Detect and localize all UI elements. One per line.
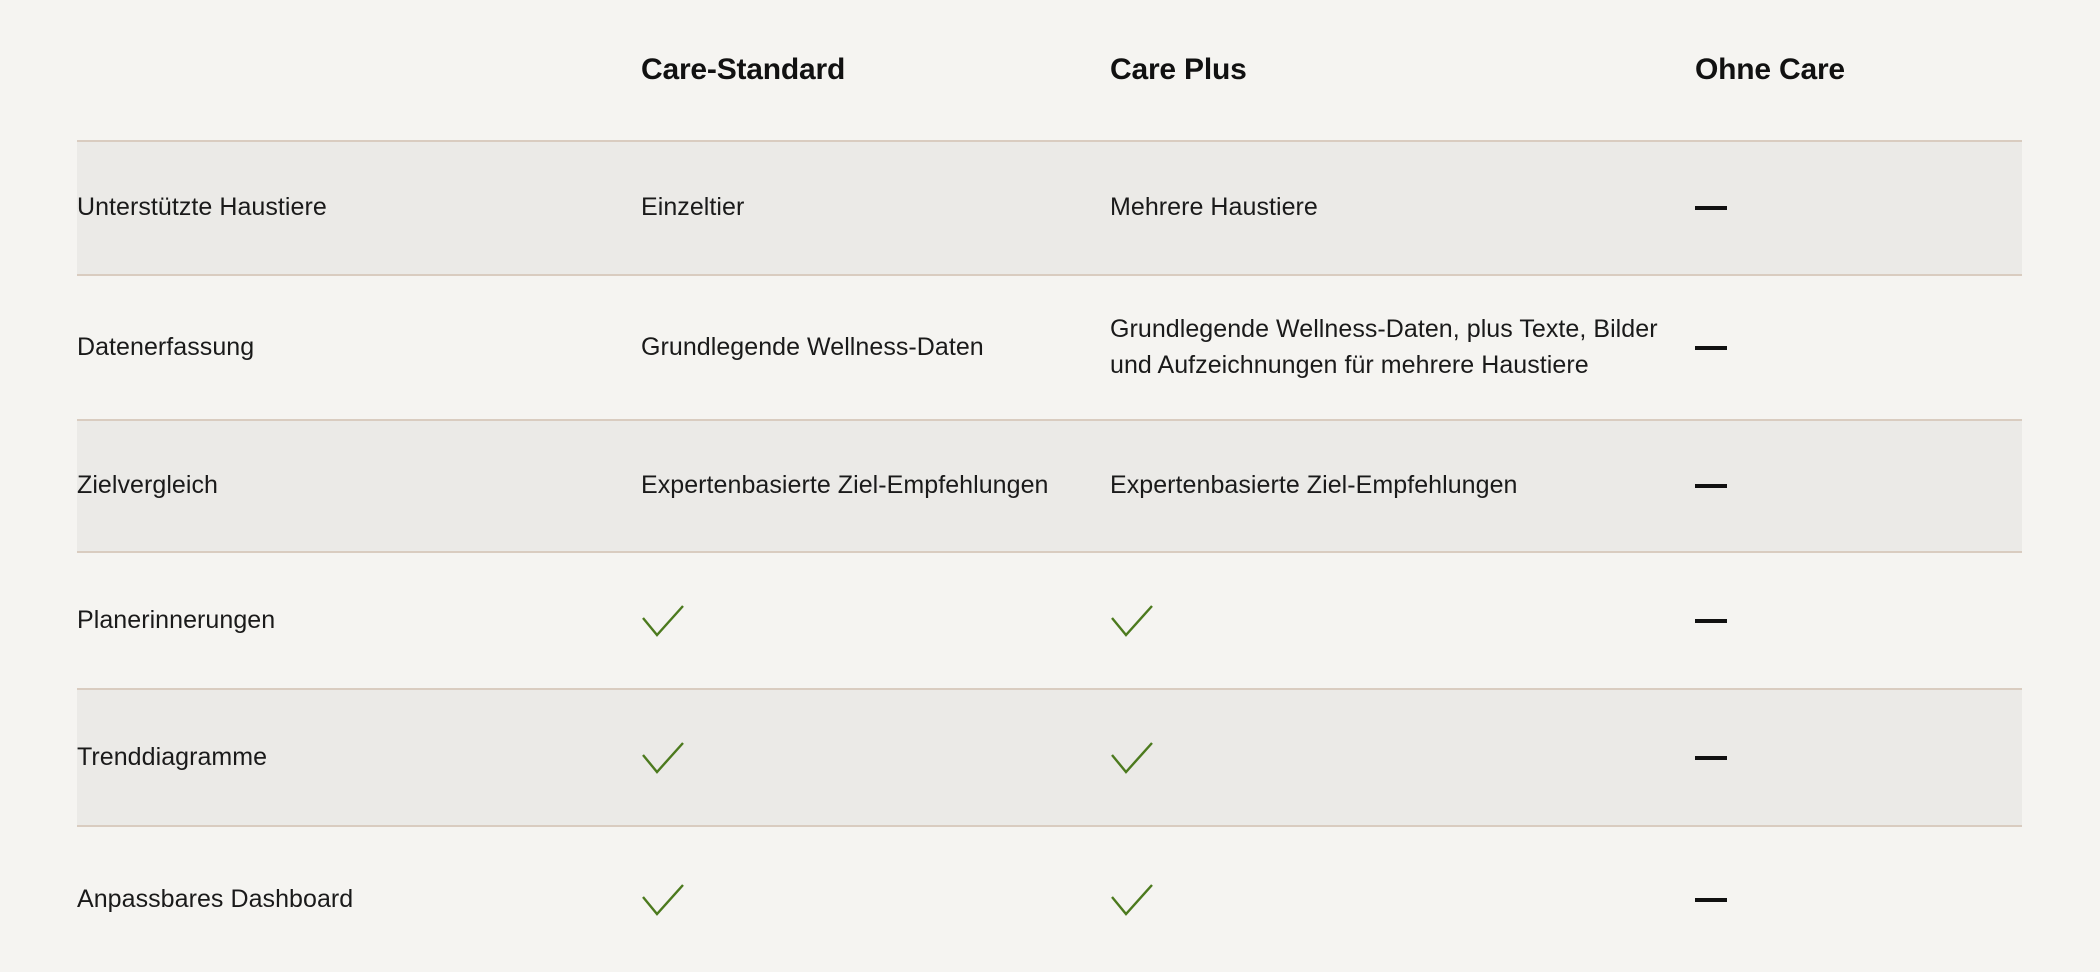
dash-icon (1695, 756, 1727, 760)
feature-cell: Planerinnerungen (77, 552, 641, 689)
care-plus-value: Expertenbasierte Ziel-Empfehlungen (1110, 432, 1695, 540)
ohne-care-cell (1695, 552, 2022, 689)
care-plus-cell: Grundlegende Wellness-Daten, plus Texte,… (1110, 275, 1695, 420)
care-standard-value: Einzeltier (641, 154, 1110, 262)
check-icon (641, 604, 685, 638)
ohne-care-value (1695, 448, 2022, 524)
care-plus-value: Grundlegende Wellness-Daten, plus Texte,… (1110, 276, 1695, 419)
header-row: Care-Standard Care Plus Ohne Care (77, 0, 2022, 141)
care-standard-cell (641, 689, 1110, 826)
care-plus-cell (1110, 689, 1695, 826)
ohne-care-cell (1695, 826, 2022, 972)
feature-cell: Unterstützte Haustiere (77, 141, 641, 275)
check-icon (641, 883, 685, 917)
ohne-care-value (1695, 720, 2022, 796)
care-plus-cell (1110, 552, 1695, 689)
table-row: Datenerfassung Grundlegende Wellness-Dat… (77, 275, 2022, 420)
care-plus-cell (1110, 826, 1695, 972)
care-plus-value (1110, 705, 1695, 811)
ohne-care-value (1695, 170, 2022, 246)
care-standard-cell: Expertenbasierte Ziel-Empfehlungen (641, 420, 1110, 552)
table-row: Planerinnerungen (77, 552, 2022, 689)
feature-label: Planerinnerungen (77, 567, 641, 675)
care-standard-cell (641, 552, 1110, 689)
column-header-care-plus: Care Plus (1110, 0, 1695, 141)
ohne-care-cell (1695, 689, 2022, 826)
care-standard-cell: Grundlegende Wellness-Daten (641, 275, 1110, 420)
care-plus-value (1110, 568, 1695, 674)
care-plus-value (1110, 847, 1695, 953)
care-plus-cell: Expertenbasierte Ziel-Empfehlungen (1110, 420, 1695, 552)
care-standard-value: Grundlegende Wellness-Daten (641, 294, 1110, 402)
dash-icon (1695, 206, 1727, 210)
check-icon (1110, 604, 1154, 638)
care-standard-value (641, 705, 1110, 811)
care-standard-cell: Einzeltier (641, 141, 1110, 275)
table-row: Anpassbares Dashboard (77, 826, 2022, 972)
dash-icon (1695, 484, 1727, 488)
table-header: Care-Standard Care Plus Ohne Care (77, 0, 2022, 141)
care-standard-value (641, 847, 1110, 953)
table-row: Zielvergleich Expertenbasierte Ziel-Empf… (77, 420, 2022, 552)
column-header-care-standard-label: Care-Standard (641, 51, 1110, 89)
column-header-care-standard: Care-Standard (641, 0, 1110, 141)
table-body: Unterstützte Haustiere Einzeltier Mehrer… (77, 141, 2022, 972)
dash-icon (1695, 619, 1727, 623)
care-standard-cell (641, 826, 1110, 972)
feature-cell: Anpassbares Dashboard (77, 826, 641, 972)
ohne-care-value (1695, 310, 2022, 386)
care-plus-cell: Mehrere Haustiere (1110, 141, 1695, 275)
comparison-page: Care-Standard Care Plus Ohne Care Unters… (0, 0, 2100, 950)
check-icon (641, 741, 685, 775)
feature-cell: Trenddiagramme (77, 689, 641, 826)
ohne-care-cell (1695, 141, 2022, 275)
care-plus-value: Mehrere Haustiere (1110, 154, 1695, 262)
feature-label: Zielvergleich (77, 432, 641, 540)
ohne-care-cell (1695, 420, 2022, 552)
feature-cell: Datenerfassung (77, 275, 641, 420)
feature-label: Trenddiagramme (77, 704, 641, 812)
check-icon (1110, 741, 1154, 775)
column-header-ohne-care: Ohne Care (1695, 0, 2022, 141)
dash-icon (1695, 346, 1727, 350)
table-row: Unterstützte Haustiere Einzeltier Mehrer… (77, 141, 2022, 275)
feature-cell: Zielvergleich (77, 420, 641, 552)
column-header-feature (77, 0, 641, 141)
check-icon (1110, 883, 1154, 917)
feature-label: Datenerfassung (77, 294, 641, 402)
plan-comparison-table: Care-Standard Care Plus Ohne Care Unters… (77, 0, 2022, 972)
column-header-ohne-care-label: Ohne Care (1695, 51, 2022, 89)
ohne-care-cell (1695, 275, 2022, 420)
dash-icon (1695, 898, 1727, 902)
care-standard-value (641, 568, 1110, 674)
feature-label: Unterstützte Haustiere (77, 154, 641, 262)
care-standard-value: Expertenbasierte Ziel-Empfehlungen (641, 432, 1110, 540)
ohne-care-value (1695, 583, 2022, 659)
table-row: Trenddiagramme (77, 689, 2022, 826)
column-header-care-plus-label: Care Plus (1110, 51, 1695, 89)
ohne-care-value (1695, 862, 2022, 938)
feature-label: Anpassbares Dashboard (77, 846, 641, 954)
